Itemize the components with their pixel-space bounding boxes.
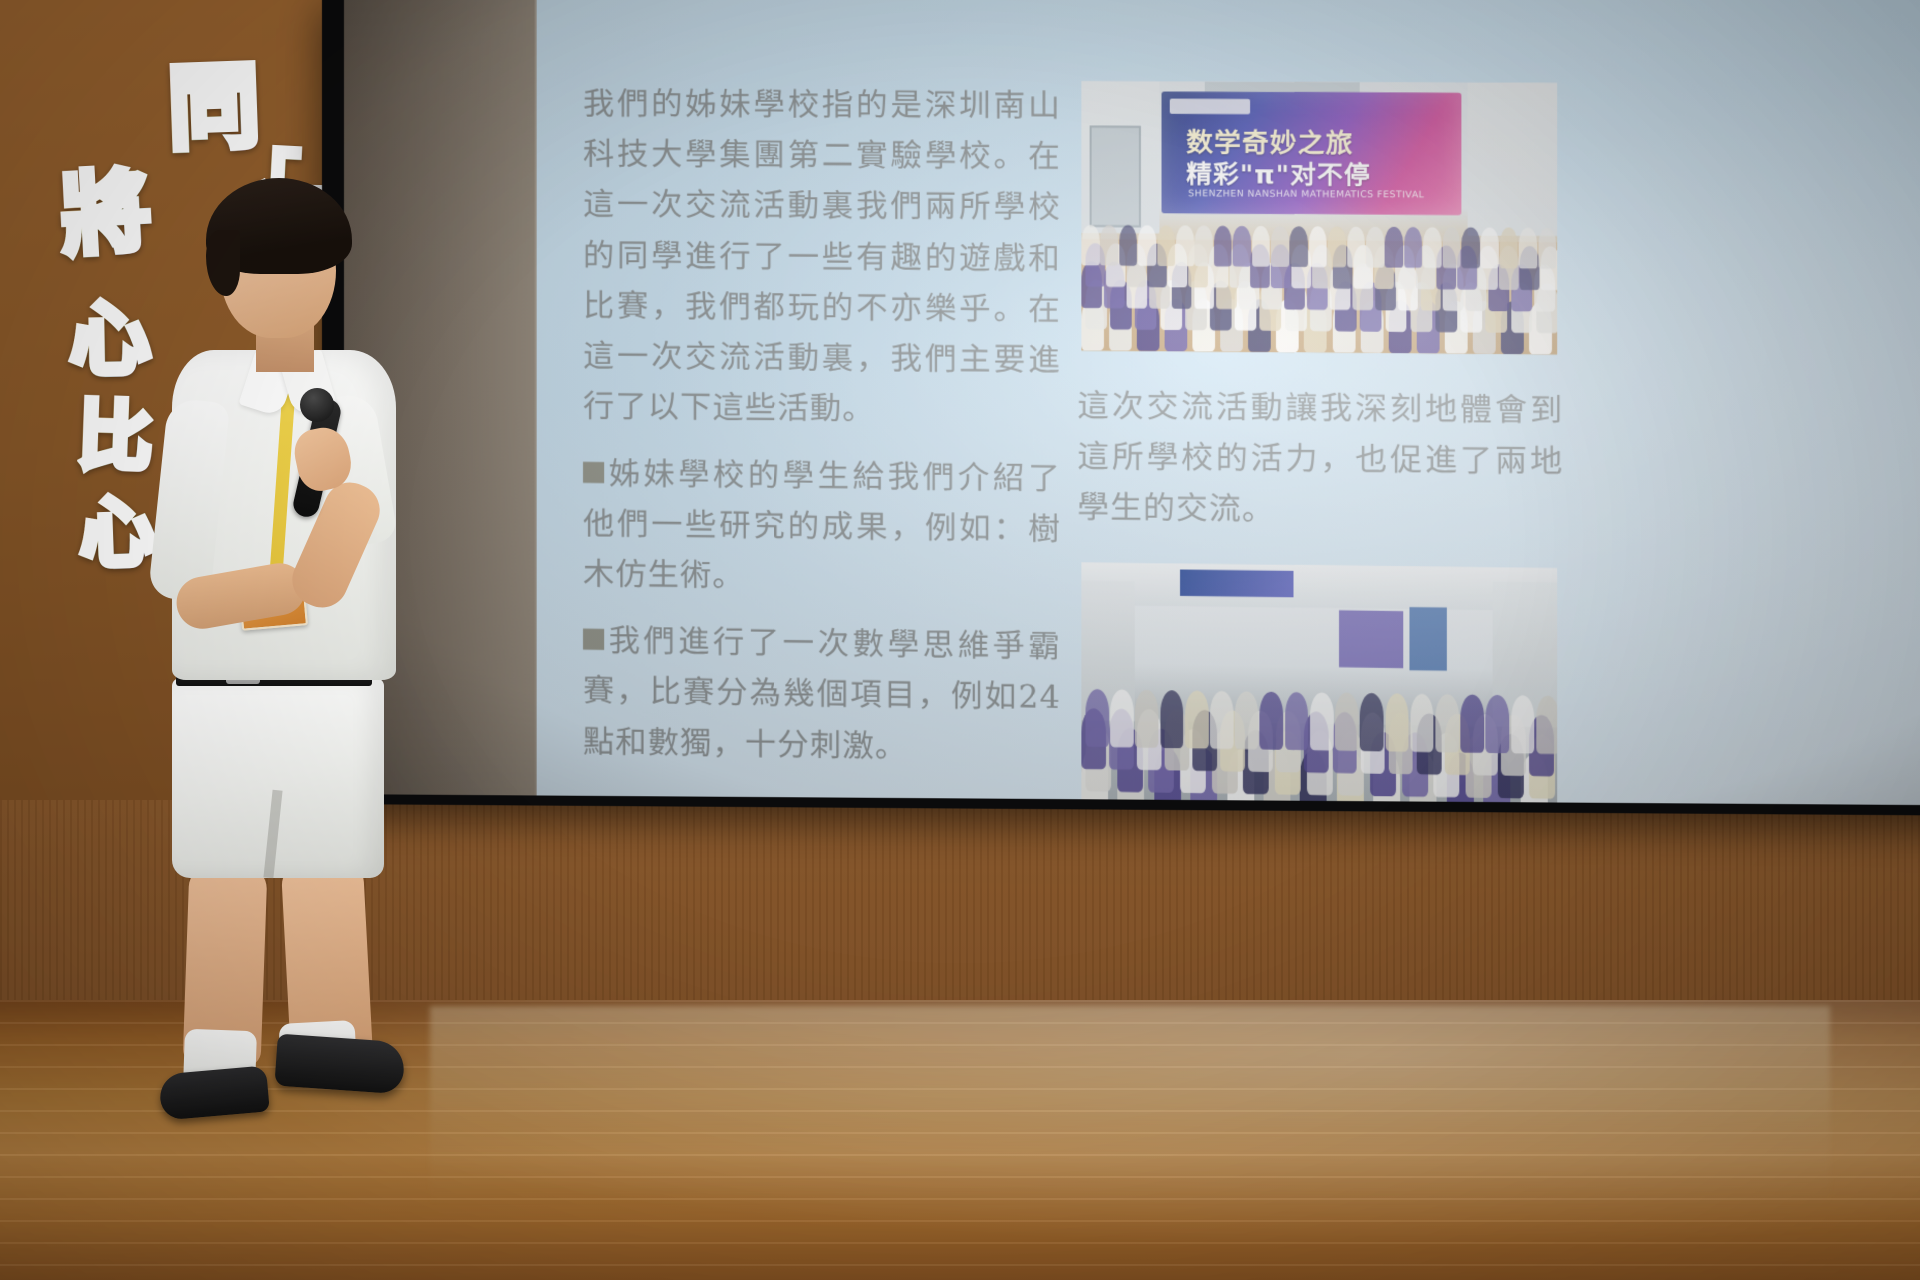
slide-right-column: 数学奇妙之旅 精彩"π"对不停 SHENZHEN NANSHAN MATHEMA… — [1077, 81, 1563, 805]
square-bullet-icon — [583, 461, 604, 482]
slide-content: 我們的姊妹學校指的是深圳南山科技大學集團第二實驗學校。在這一次交流活動裏我們兩所… — [537, 0, 1920, 805]
photo-wall-panel-2 — [1409, 607, 1446, 671]
slide-photo-group-assembly: 数学奇妙之旅 精彩"π"对不停 SHENZHEN NANSHAN MATHEMA… — [1081, 81, 1557, 355]
presentation-scene: 同 「 將 調 心 比 心 我們的姊妹學校指的是深圳南山科技大學集團第二實驗學校… — [0, 0, 1920, 1280]
photo-banner-line-2: 精彩"π"对不停 — [1186, 154, 1371, 192]
photo-wall-panel-1 — [1339, 610, 1403, 668]
slide-bullet-2-text: 我們進行了一次數學思維爭霸賽，比賽分為幾個項目，例如24點和數獨，十分刺激。 — [583, 623, 1061, 765]
presenter-shorts — [172, 678, 384, 878]
projected-slide: 我們的姊妹學校指的是深圳南山科技大學集團第二實驗學校。在這一次交流活動裏我們兩所… — [537, 0, 1920, 805]
student-presenter — [80, 150, 500, 980]
slide-photo-corridor-activity — [1081, 562, 1557, 805]
slide-bullet-item-1: 姊妹學校的學生給我們介紹了他們一些研究的成果，例如：樹木仿生術。 — [583, 448, 1061, 606]
slide-paragraph-reflection: 這次交流活動讓我深刻地體會到這所學校的活力，也促進了兩地學生的交流。 — [1077, 381, 1563, 539]
slide-left-column: 我們的姊妹學校指的是深圳南山科技大學集團第二實驗學校。在這一次交流活動裏我們兩所… — [583, 79, 1061, 804]
square-bullet-icon — [583, 629, 604, 650]
photo-stage-banner: 数学奇妙之旅 精彩"π"对不停 SHENZHEN NANSHAN MATHEMA… — [1162, 91, 1462, 215]
photo-wall-display — [1180, 569, 1293, 597]
photo-ceiling — [1081, 562, 1557, 611]
floor-screen-reflection — [430, 1006, 1830, 1206]
presenter-shoe-left — [158, 1065, 270, 1120]
presenter-shoe-right — [274, 1034, 405, 1095]
projection-screen-frame: 我們的姊妹學校指的是深圳南山科技大學集團第二實驗學校。在這一次交流活動裏我們兩所… — [322, 0, 1920, 816]
projection-screen-surface: 我們的姊妹學校指的是深圳南山科技大學集團第二實驗學校。在這一次交流活動裏我們兩所… — [344, 0, 1920, 805]
slide-bullet-1-text: 姊妹學校的學生給我們介紹了他們一些研究的成果，例如：樹木仿生術。 — [583, 455, 1061, 594]
slide-paragraph-intro: 我們的姊妹學校指的是深圳南山科技大學集團第二實驗學校。在這一次交流活動裏我們兩所… — [583, 79, 1061, 437]
presenter-hair-sideburn — [206, 230, 240, 296]
photo-banner-logo — [1170, 99, 1250, 115]
wall-decor-char-1: 同 — [166, 60, 261, 155]
photo-crowd-dancers — [1081, 661, 1557, 805]
slide-bullet-item-2: 我們進行了一次數學思維爭霸賽，比賽分為幾個項目，例如24點和數獨，十分刺激。 — [583, 616, 1061, 775]
photo-crowd-students — [1081, 199, 1557, 355]
